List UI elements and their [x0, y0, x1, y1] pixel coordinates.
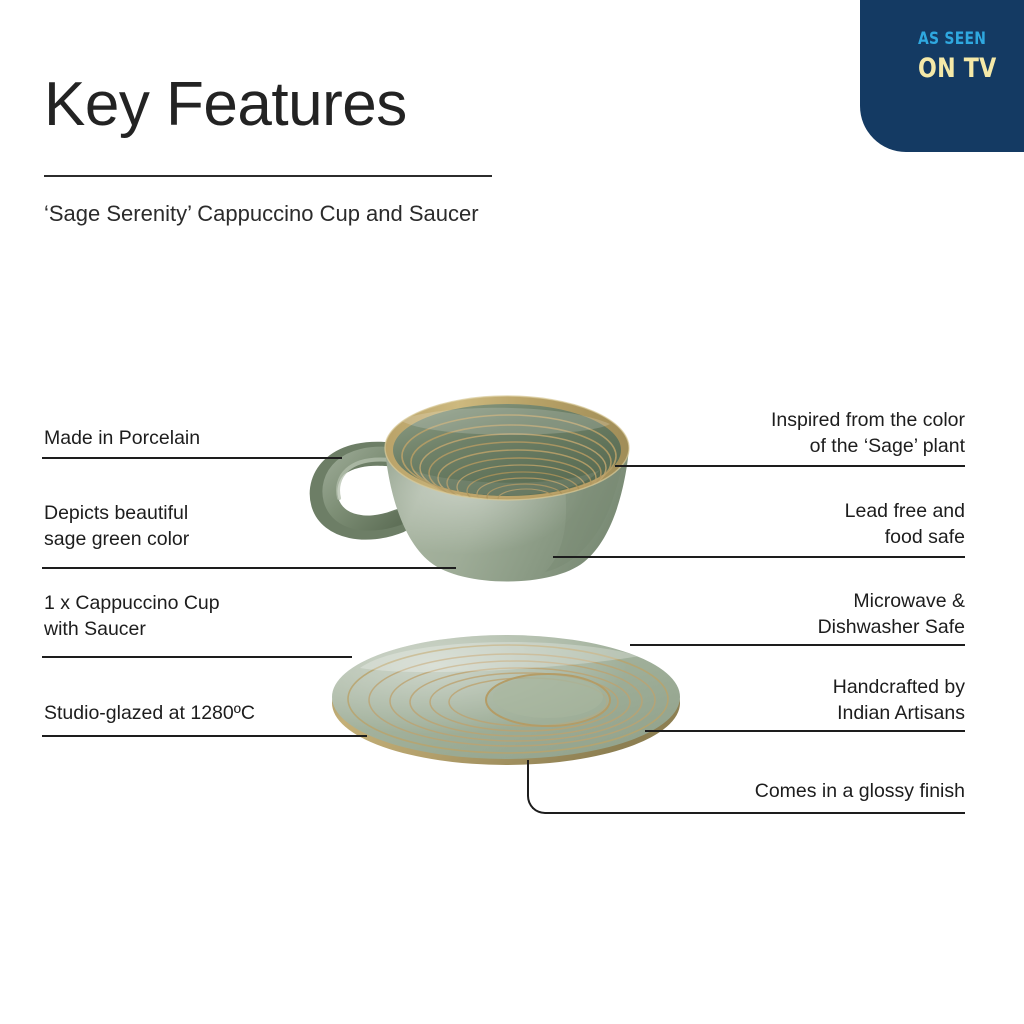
feature-right-rule-5: [566, 812, 965, 814]
badge-line-2: ON TV: [918, 54, 997, 84]
feature-right-rule-4: [645, 730, 965, 732]
feature-right-rule-1: [615, 465, 965, 467]
saucer: [332, 635, 680, 765]
feature-right-3: Microwave & Dishwasher Safe: [818, 588, 965, 641]
feature-left-1: Made in Porcelain: [44, 425, 200, 451]
feature-right-4: Handcrafted by Indian Artisans: [833, 674, 965, 727]
feature-right-1: Inspired from the color of the ‘Sage’ pl…: [771, 407, 965, 460]
feature-right-connector-elbow: [527, 760, 569, 814]
as-seen-on-tv-badge: AS SEEN ON TV: [860, 0, 1024, 152]
feature-right-5: Comes in a glossy finish: [755, 778, 965, 804]
feature-left-rule-1: [42, 457, 342, 459]
page-title: Key Features: [44, 72, 407, 137]
feature-left-3: 1 x Cappuccino Cup with Saucer: [44, 590, 220, 643]
feature-right-rule-2: [553, 556, 965, 558]
badge-line-1: AS SEEN: [918, 30, 986, 50]
cup-body: [385, 448, 629, 582]
page-subtitle: ‘Sage Serenity’ Cappuccino Cup and Sauce…: [44, 198, 564, 229]
feature-right-2: Lead free and food safe: [845, 498, 965, 551]
feature-left-rule-2: [42, 567, 456, 569]
title-divider: [44, 175, 492, 177]
cup-interior-rings: [400, 408, 616, 510]
feature-left-2: Depicts beautiful sage green color: [44, 500, 189, 553]
saucer-rings: [369, 654, 655, 746]
infographic-page: AS SEEN ON TV Key Features ‘Sage Serenit…: [0, 0, 1024, 1024]
cup-rim: [385, 396, 629, 500]
cup-interior: [393, 404, 621, 496]
cup-handle: [322, 454, 399, 528]
feature-left-rule-3: [42, 656, 352, 658]
feature-left-rule-4: [42, 735, 367, 737]
feature-left-4: Studio-glazed at 1280ºC: [44, 700, 255, 726]
feature-right-rule-3: [630, 644, 965, 646]
